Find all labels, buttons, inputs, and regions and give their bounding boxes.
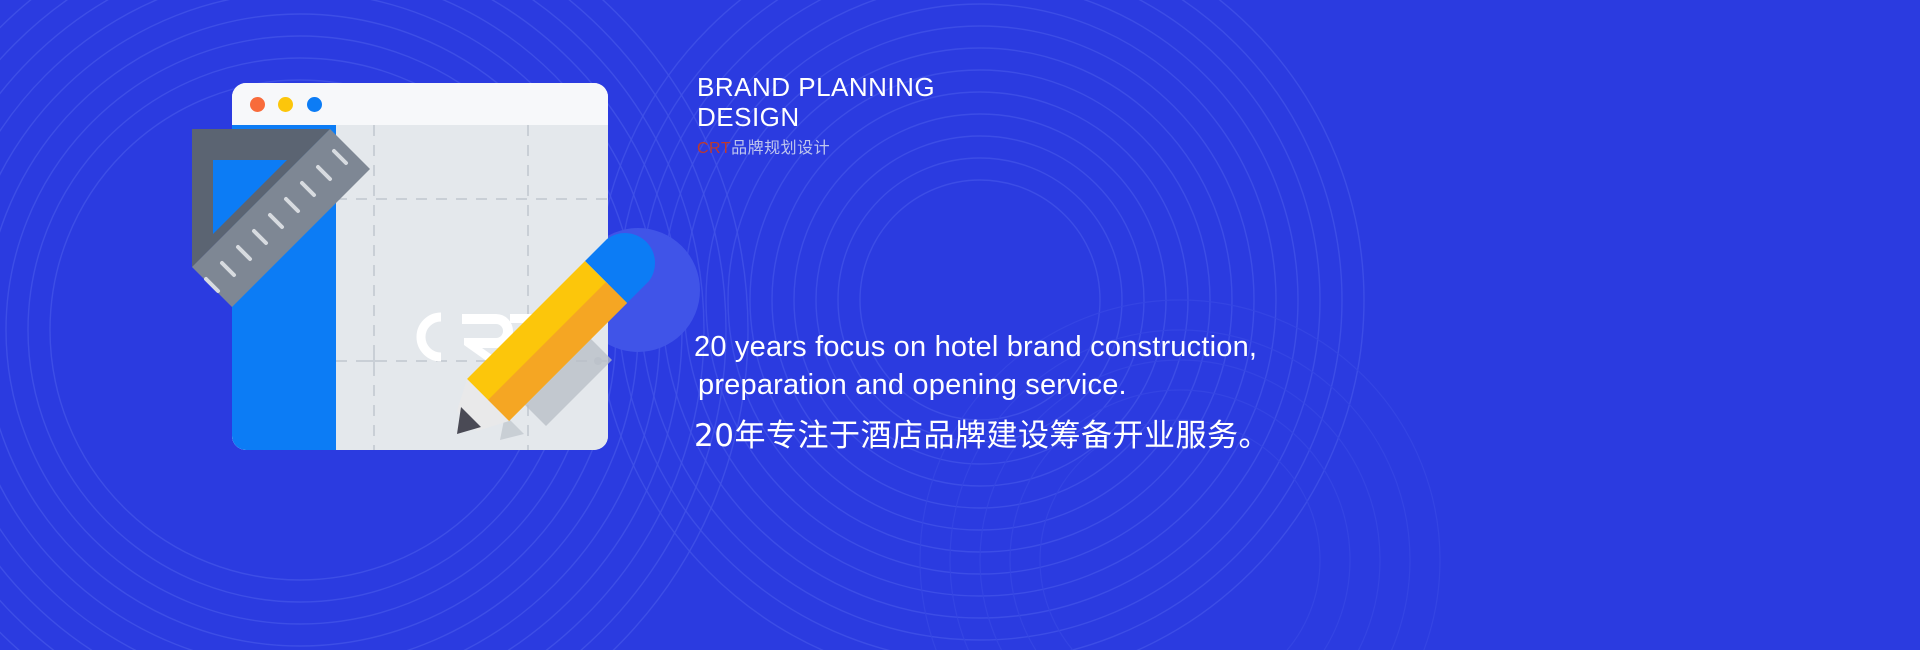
- hero-illustration: [0, 0, 760, 650]
- heading-line-2: DESIGN: [697, 102, 1397, 132]
- brand-mark: CRT: [697, 140, 731, 157]
- crt-watermark-logo: [400, 300, 590, 370]
- maximize-dot-icon[interactable]: [307, 97, 322, 112]
- document-page: [232, 125, 608, 450]
- subheading: CRT品牌规划设计: [697, 139, 1397, 159]
- brand-banner: BRAND PLANNING DESIGN CRT品牌规划设计 20 years…: [0, 0, 1920, 650]
- window-title-bar: [232, 83, 608, 125]
- subheading-text: 品牌规划设计: [731, 140, 830, 157]
- body-en-line-1: 20 years focus on hotel brand constructi…: [694, 328, 1594, 366]
- body-cn-line: 20年专注于酒店品牌建设筹备开业服务。: [694, 416, 1594, 456]
- heading-line-1: BRAND PLANNING: [697, 72, 1397, 102]
- close-dot-icon[interactable]: [250, 97, 265, 112]
- browser-window-mockup: [232, 83, 608, 450]
- heading-block: BRAND PLANNING DESIGN CRT品牌规划设计: [697, 72, 1397, 159]
- body-en-line-2: preparation and opening service.: [694, 366, 1594, 404]
- body-text-block: 20 years focus on hotel brand constructi…: [694, 328, 1594, 456]
- minimize-dot-icon[interactable]: [278, 97, 293, 112]
- layout-guides: [232, 125, 608, 450]
